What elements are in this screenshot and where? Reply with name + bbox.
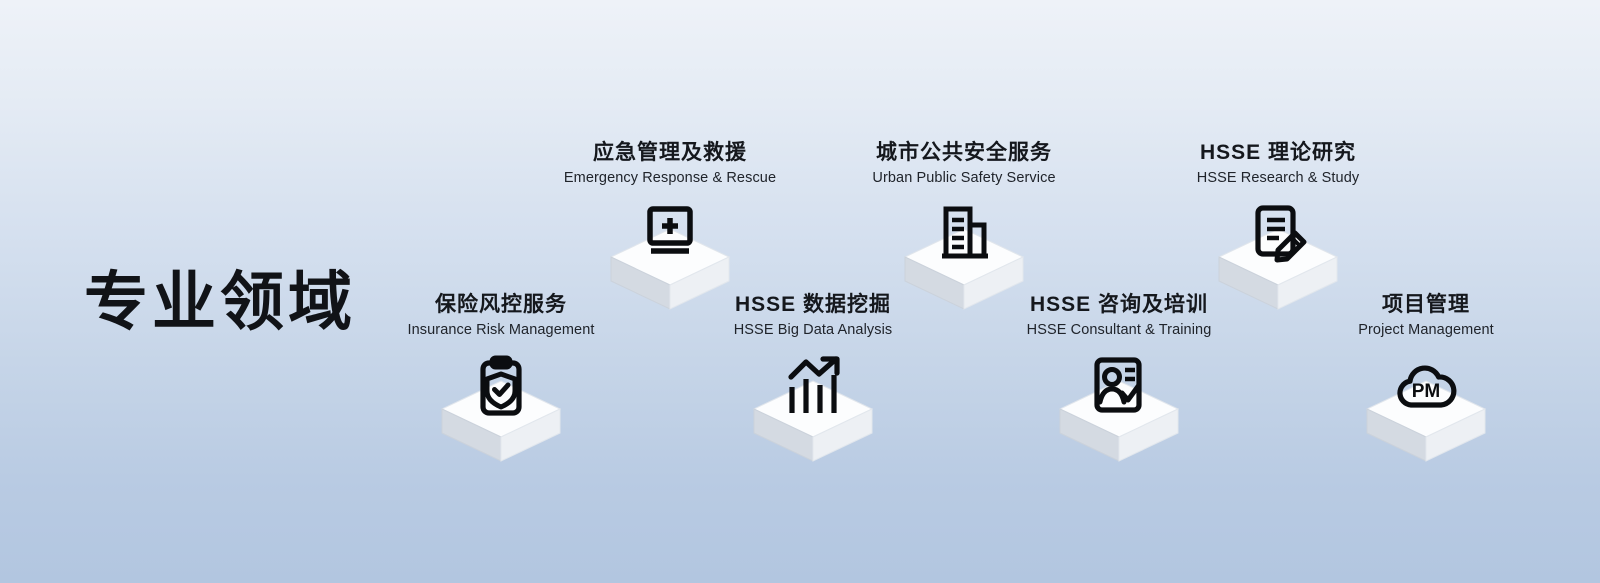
service-icon-pedestal (351, 349, 651, 469)
clipboard-shield-check-icon (463, 349, 539, 425)
service-title-en: Emergency Response & Rescue (520, 169, 820, 189)
service-title-en: Project Management (1276, 321, 1576, 341)
service-labels: 城市公共安全服务Urban Public Safety Service (814, 140, 1114, 189)
service-card-emergency-response-rescue[interactable]: 应急管理及救援Emergency Response & Rescue (520, 140, 820, 317)
service-title-cn: 保险风控服务 (351, 292, 651, 318)
service-title-en: HSSE Consultant & Training (969, 321, 1269, 341)
service-title-en: HSSE Big Data Analysis (663, 321, 963, 341)
service-title-cn: HSSE 咨询及培训 (969, 292, 1269, 318)
service-title-en: Insurance Risk Management (351, 321, 651, 341)
city-buildings-icon (926, 197, 1002, 273)
service-card-hsse-consultant-training[interactable]: HSSE 咨询及培训HSSE Consultant & Training (969, 292, 1269, 469)
service-title-en: Urban Public Safety Service (814, 169, 1114, 189)
service-icon-pedestal (663, 349, 963, 469)
service-labels: HSSE 理论研究HSSE Research & Study (1128, 140, 1428, 189)
service-title-en: HSSE Research & Study (1128, 169, 1428, 189)
bar-chart-trend-arrow-icon (775, 349, 851, 425)
service-card-urban-public-safety-service[interactable]: 城市公共安全服务Urban Public Safety Service (814, 140, 1114, 317)
service-icon-pedestal (1276, 349, 1576, 469)
service-card-insurance-risk-management[interactable]: 保险风控服务Insurance Risk Management (351, 292, 651, 469)
service-labels: HSSE 咨询及培训HSSE Consultant & Training (969, 292, 1269, 341)
cloud-pm-icon (1388, 349, 1464, 425)
service-card-project-management[interactable]: 项目管理Project Management (1276, 292, 1576, 469)
service-labels: 项目管理Project Management (1276, 292, 1576, 341)
service-icon-pedestal (969, 349, 1269, 469)
service-card-hsse-research-study[interactable]: HSSE 理论研究HSSE Research & Study (1128, 140, 1428, 317)
page-title: 专业领域 (84, 269, 356, 336)
service-title-cn: 项目管理 (1276, 292, 1576, 318)
service-title-cn: HSSE 理论研究 (1128, 140, 1428, 166)
service-labels: 应急管理及救援Emergency Response & Rescue (520, 140, 820, 189)
service-card-hsse-big-data-analysis[interactable]: HSSE 数据挖掘HSSE Big Data Analysis (663, 292, 963, 469)
person-id-card-check-icon (1081, 349, 1157, 425)
service-title-cn: 应急管理及救援 (520, 140, 820, 166)
service-labels: 保险风控服务Insurance Risk Management (351, 292, 651, 341)
service-title-cn: HSSE 数据挖掘 (663, 292, 963, 318)
service-labels: HSSE 数据挖掘HSSE Big Data Analysis (663, 292, 963, 341)
professional-domains-banner: 专业领域 应急管理及救援Emergency Response & Rescue城… (0, 0, 1600, 583)
service-title-cn: 城市公共安全服务 (814, 140, 1114, 166)
first-aid-monitor-icon (632, 197, 708, 273)
document-pencil-icon (1240, 197, 1316, 273)
